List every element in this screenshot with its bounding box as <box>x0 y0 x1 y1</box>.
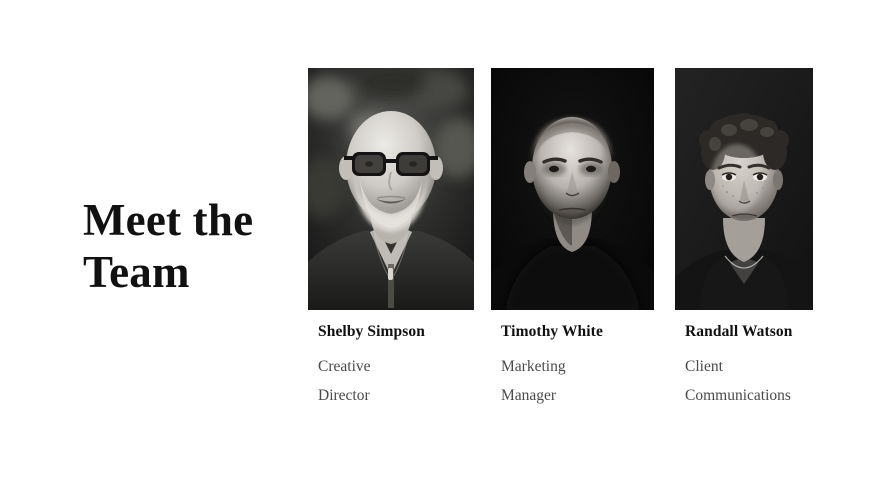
team-member-grid: Shelby Simpson Creative Director <box>308 68 813 413</box>
page-title: Meet the Team <box>83 194 298 298</box>
team-member-name: Timothy White <box>501 322 654 342</box>
portrait-photo-timothy-white <box>491 68 654 310</box>
team-member-caption: Timothy White Marketing Manager <box>491 310 654 410</box>
team-member-card[interactable]: Shelby Simpson Creative Director <box>308 68 474 410</box>
team-member-name: Randall Watson <box>685 322 813 342</box>
team-member-role: Creative Director <box>318 352 474 410</box>
team-member-caption: Shelby Simpson Creative Director <box>308 310 474 410</box>
team-slide: Meet the Team <box>0 0 880 495</box>
portrait-photo-shelby-simpson <box>308 68 474 310</box>
team-member-card[interactable]: Randall Watson Client Communications <box>675 68 813 410</box>
team-member-role: Client Communications <box>685 352 813 410</box>
team-member-caption: Randall Watson Client Communications <box>675 310 813 410</box>
team-member-name: Shelby Simpson <box>318 322 474 342</box>
portrait-photo-randall-watson <box>675 68 813 310</box>
team-member-role: Marketing Manager <box>501 352 654 410</box>
team-member-card[interactable]: Timothy White Marketing Manager <box>491 68 654 410</box>
